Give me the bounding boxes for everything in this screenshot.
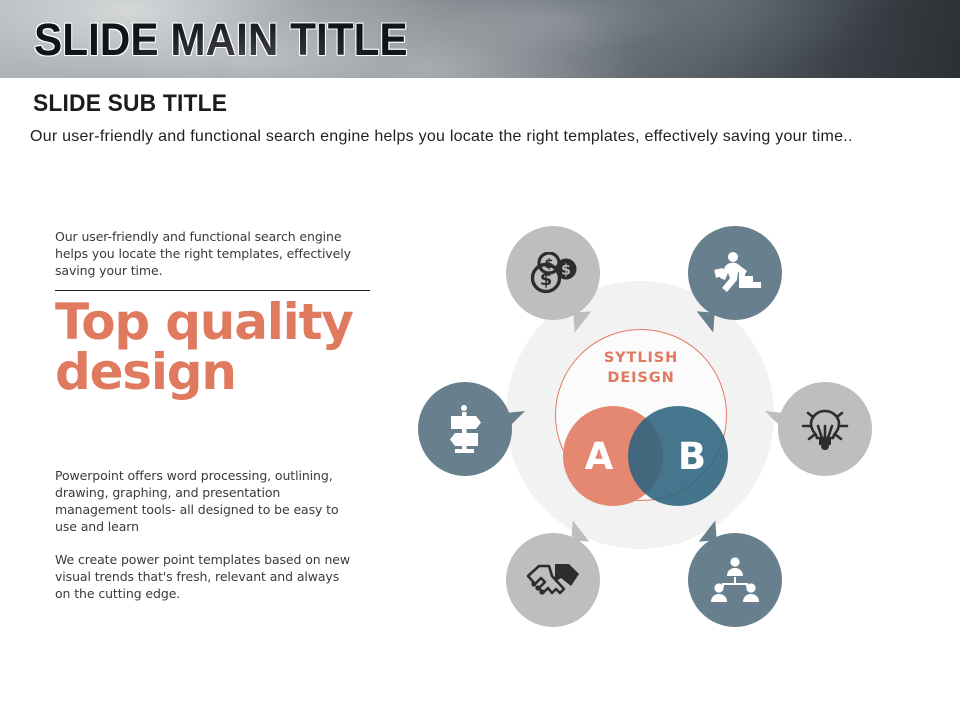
bubble-tail <box>571 520 590 541</box>
signpost-icon <box>442 404 488 454</box>
bubble-tail <box>697 520 716 541</box>
body-paragraph-3: We create power point templates based on… <box>55 551 350 602</box>
sub-title-description: Our user-friendly and functional search … <box>30 128 930 146</box>
bubble-tail <box>573 311 592 332</box>
bubble-idea[interactable] <box>778 382 872 476</box>
bubble-money-coins[interactable]: $ $ $ <box>506 226 600 320</box>
divider-rule <box>55 290 370 291</box>
body-paragraph-2: Powerpoint offers word processing, outli… <box>55 467 357 535</box>
team-structure-icon <box>709 557 761 603</box>
bubble-tail <box>505 411 527 429</box>
left-text-column: Our user-friendly and functional search … <box>55 228 373 602</box>
header-band: SLIDE MAIN TITLE <box>0 0 960 78</box>
center-label-line-1: SYTLISH <box>555 348 727 368</box>
venn-hub-diagram: SYTLISH DEISGN A B $ $ $ <box>400 215 900 655</box>
bubble-team-structure[interactable] <box>688 533 782 627</box>
bubble-tail <box>763 411 785 429</box>
bubble-tail <box>695 311 714 332</box>
venn-circle-b-label: B <box>678 435 706 478</box>
bubble-career-growth[interactable] <box>688 226 782 320</box>
diagram-center-label: SYTLISH DEISGN <box>555 348 727 388</box>
money-coins-icon: $ $ $ <box>528 252 578 294</box>
svg-text:$: $ <box>540 269 553 290</box>
sub-title: SLIDE SUB TITLE <box>33 90 227 118</box>
intro-paragraph: Our user-friendly and functional search … <box>55 228 370 279</box>
svg-text:$: $ <box>561 263 571 279</box>
feature-heading: Top quality design <box>55 297 355 397</box>
lightbulb-icon <box>800 404 850 454</box>
venn-circle-b[interactable]: B <box>628 406 728 506</box>
page-title: SLIDE MAIN TITLE <box>34 17 408 62</box>
bubble-partnership[interactable] <box>506 533 600 627</box>
venn-circle-a-label: A <box>585 435 614 478</box>
center-label-line-2: DEISGN <box>555 368 727 388</box>
bubble-direction[interactable] <box>418 382 512 476</box>
stairs-climb-icon <box>709 250 761 296</box>
handshake-icon <box>525 560 581 600</box>
